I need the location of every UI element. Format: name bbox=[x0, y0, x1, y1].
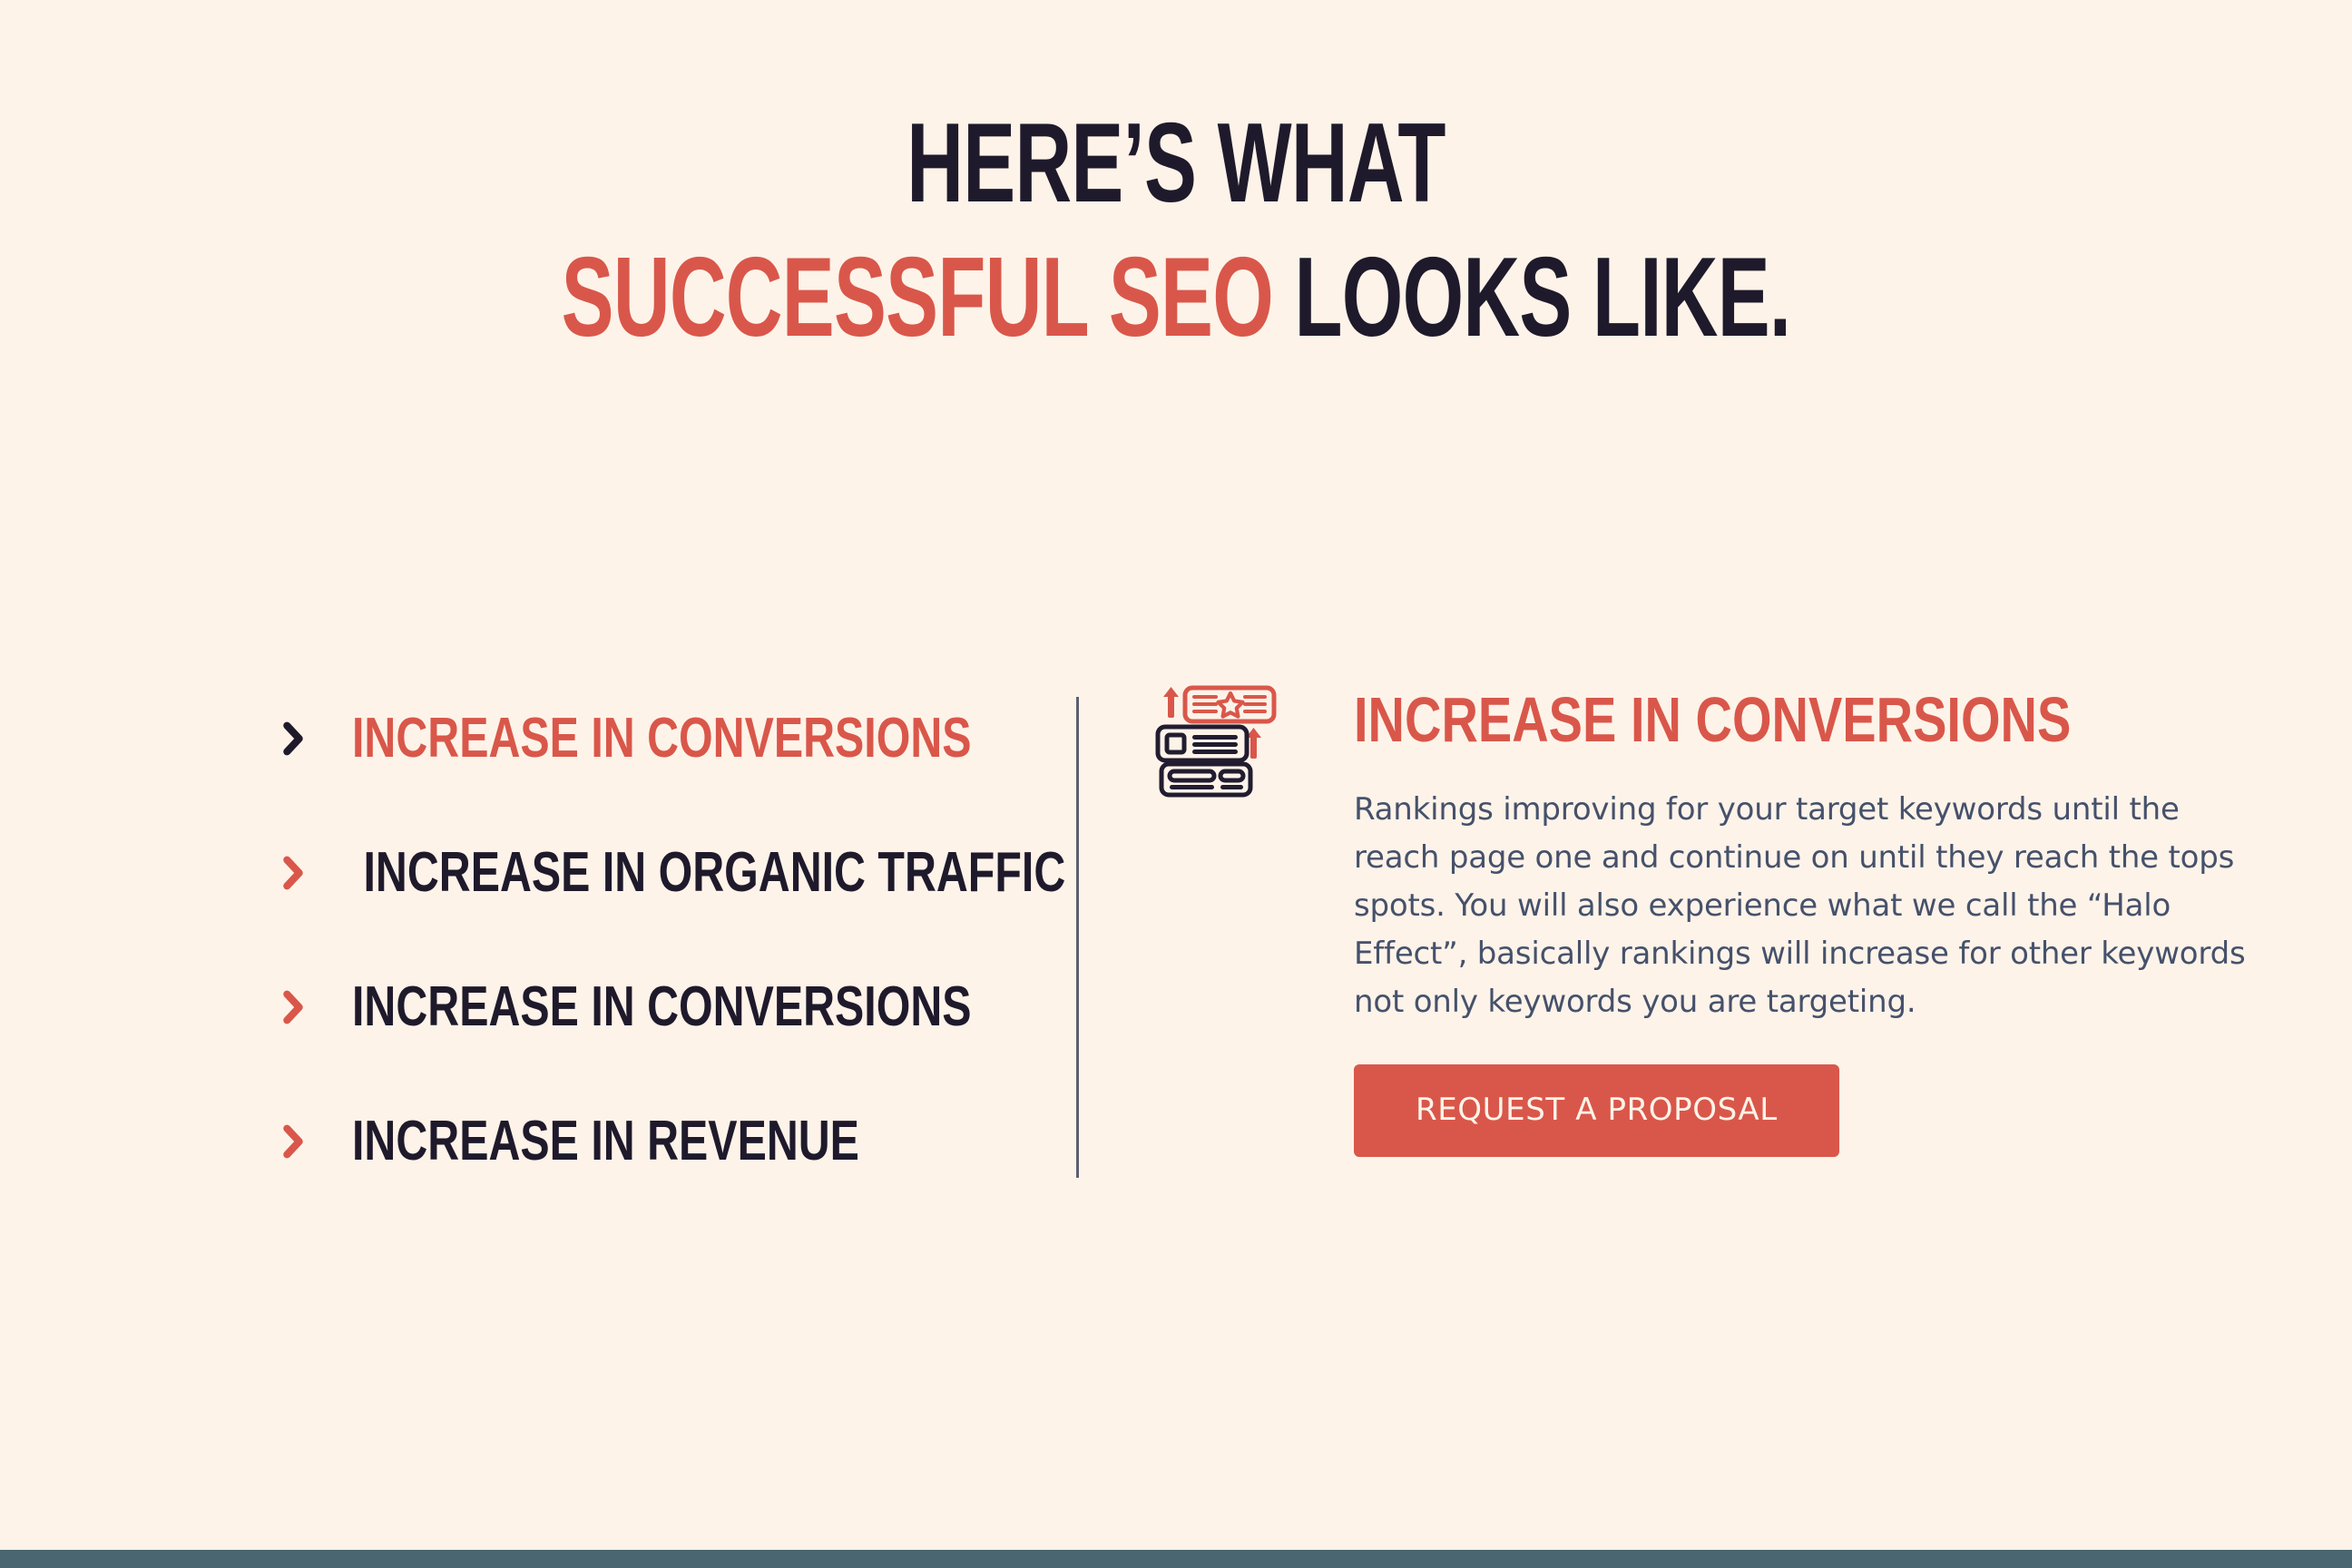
list-item-label: INCREASE IN REVENUE bbox=[352, 1113, 859, 1170]
detail-body: INCREASE IN CONVERSIONS Rankings improvi… bbox=[1354, 671, 2270, 1157]
list-item-increase-in-conversions-2[interactable]: INCREASE IN CONVERSIONS bbox=[272, 940, 1076, 1074]
bottom-accent-strip bbox=[0, 1550, 2352, 1568]
page-heading: HERE’S WHAT SUCCESSFUL SEO LOOKS LIKE. bbox=[0, 0, 2352, 354]
content-area: INCREASE IN CONVERSIONS INCREASE IN ORGA… bbox=[0, 671, 2352, 1209]
chevron-right-icon bbox=[272, 986, 314, 1028]
request-a-proposal-button[interactable]: REQUEST A PROPOSAL bbox=[1354, 1064, 1839, 1157]
heading-accent-text: SUCCESSFUL SEO bbox=[562, 235, 1273, 360]
benefit-list: INCREASE IN CONVERSIONS INCREASE IN ORGA… bbox=[0, 671, 1076, 1209]
seo-ranking-icon bbox=[1154, 684, 1278, 799]
detail-title: INCREASE IN CONVERSIONS bbox=[1354, 688, 2087, 751]
heading-line-1: HERE’S WHAT bbox=[353, 107, 1999, 220]
chevron-right-icon bbox=[272, 718, 314, 759]
heading-rest-text: LOOKS LIKE. bbox=[1273, 235, 1790, 360]
chevron-right-icon bbox=[272, 852, 314, 894]
list-item-label: INCREASE IN ORGANIC TRAFFIC bbox=[352, 845, 1065, 901]
list-item-increase-in-revenue[interactable]: INCREASE IN REVENUE bbox=[272, 1074, 1076, 1209]
column-divider bbox=[1076, 697, 1079, 1178]
list-item-increase-in-conversions-1[interactable]: INCREASE IN CONVERSIONS bbox=[272, 671, 1076, 806]
heading-line-2: SUCCESSFUL SEO LOOKS LIKE. bbox=[353, 241, 1999, 354]
list-item-label: INCREASE IN CONVERSIONS bbox=[352, 710, 972, 767]
list-item-label: INCREASE IN CONVERSIONS bbox=[352, 979, 972, 1035]
detail-panel: INCREASE IN CONVERSIONS Rankings improvi… bbox=[1076, 671, 2352, 1157]
chevron-right-icon bbox=[272, 1121, 314, 1162]
detail-description: Rankings improving for your target keywo… bbox=[1354, 786, 2261, 1026]
list-item-increase-in-organic-traffic[interactable]: INCREASE IN ORGANIC TRAFFIC bbox=[272, 806, 1076, 940]
